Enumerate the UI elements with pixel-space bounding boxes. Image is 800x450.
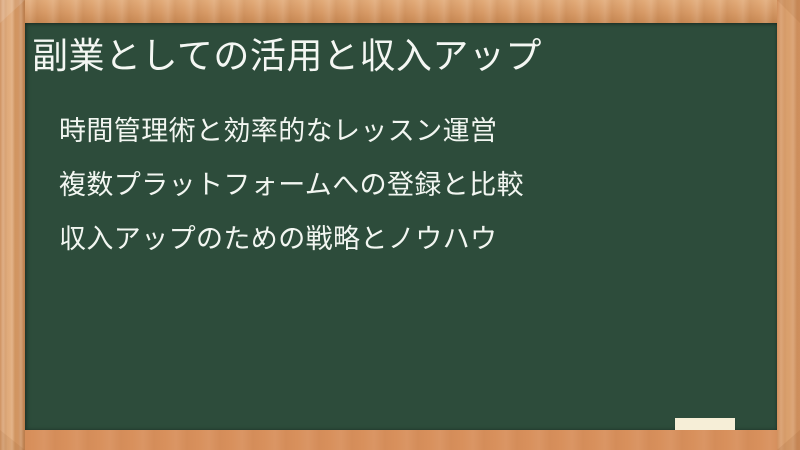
chalkboard-surface: 副業としての活用と収入アップ 時間管理術と効率的なレッスン運営 複数プラットフォ…	[25, 23, 777, 430]
frame-right-rail	[777, 0, 800, 450]
slide-bullet-item: 収入アップのための戦略とノウハウ	[59, 213, 769, 267]
slide-bullet-item: 複数プラットフォームへの登録と比較	[59, 159, 769, 213]
slide-title: 副業としての活用と収入アップ	[32, 29, 772, 85]
frame-bottom-ledge	[0, 430, 800, 450]
chalk-stick-icon	[675, 418, 735, 430]
frame-left-rail	[0, 0, 25, 450]
slide-bullet-item: 時間管理術と効率的なレッスン運営	[59, 105, 769, 159]
slide-canvas: 副業としての活用と収入アップ 時間管理術と効率的なレッスン運営 複数プラットフォ…	[0, 0, 800, 450]
frame-top-rail	[0, 0, 800, 23]
slide-bullet-list: 時間管理術と効率的なレッスン運営 複数プラットフォームへの登録と比較 収入アップ…	[59, 105, 769, 267]
